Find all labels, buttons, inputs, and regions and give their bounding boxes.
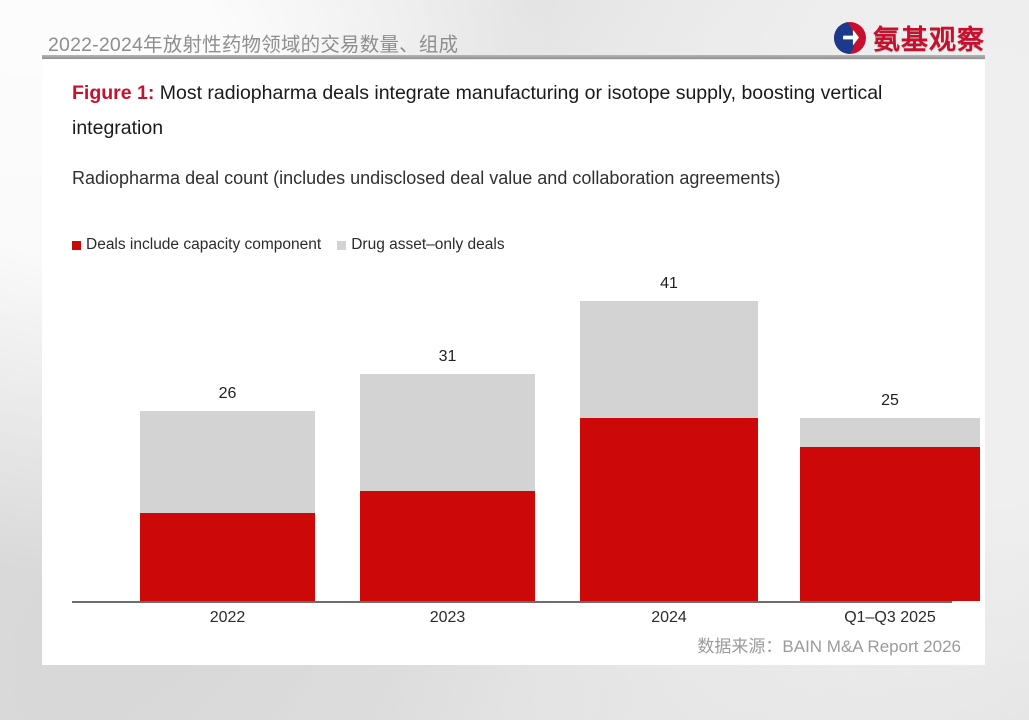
bar-total-label: 31 xyxy=(360,348,535,366)
bar-group-1[interactable]: 262022 xyxy=(140,411,315,601)
bar-total-label: 26 xyxy=(140,385,315,403)
bar-segment-drug-asset-only[interactable] xyxy=(140,411,315,513)
figure-heading: Figure 1: Most radiopharma deals integra… xyxy=(72,76,952,146)
bar-segment-capacity-component[interactable] xyxy=(360,491,535,601)
bar-group-2[interactable]: 312023 xyxy=(360,374,535,601)
bar-group-3[interactable]: 412024 xyxy=(580,301,758,601)
legend-swatch-red xyxy=(72,241,81,250)
circular-arrow-logo-icon xyxy=(834,22,866,54)
source-note: 数据来源：BAIN M&A Report 2026 xyxy=(697,632,961,657)
bar-segment-drug-asset-only[interactable] xyxy=(580,301,758,418)
slide-title: 2022-2024年放射性药物领域的交易数量、组成 xyxy=(48,28,458,57)
brand-name: 氨基观察 xyxy=(873,18,985,57)
figure-card: Figure 1: Most radiopharma deals integra… xyxy=(42,60,985,665)
legend-item-drug-asset[interactable]: Drug asset–only deals xyxy=(337,236,504,254)
legend-swatch-gray xyxy=(337,241,346,250)
bar-segment-capacity-component[interactable] xyxy=(800,447,980,601)
bar-total-label: 41 xyxy=(580,275,758,293)
chart-legend: Deals include capacity component Drug as… xyxy=(72,236,505,254)
figure-heading-text: Most radiopharma deals integrate manufac… xyxy=(72,82,882,139)
stacked-bar-chart: 26202231202341202425Q1–Q3 2025 xyxy=(72,292,962,632)
figure-label: Figure 1: xyxy=(72,82,154,104)
bar-total-label: 25 xyxy=(800,392,980,410)
x-axis-label: 2024 xyxy=(580,601,758,627)
legend-label-capacity: Deals include capacity component xyxy=(86,236,321,254)
bar-segment-drug-asset-only[interactable] xyxy=(360,374,535,491)
x-axis-label: 2022 xyxy=(140,601,315,627)
legend-label-drug-asset: Drug asset–only deals xyxy=(351,236,504,254)
bar-group-4[interactable]: 25Q1–Q3 2025 xyxy=(800,418,980,601)
bar-segment-capacity-component[interactable] xyxy=(580,418,758,601)
brand-logo: 氨基观察 xyxy=(834,18,985,57)
bar-segment-drug-asset-only[interactable] xyxy=(800,418,980,447)
bar-segment-capacity-component[interactable] xyxy=(140,513,315,601)
legend-item-capacity[interactable]: Deals include capacity component xyxy=(72,236,321,254)
x-axis-label: Q1–Q3 2025 xyxy=(800,601,980,627)
figure-subtitle: Radiopharma deal count (includes undiscl… xyxy=(72,165,882,191)
x-axis-label: 2023 xyxy=(360,601,535,627)
